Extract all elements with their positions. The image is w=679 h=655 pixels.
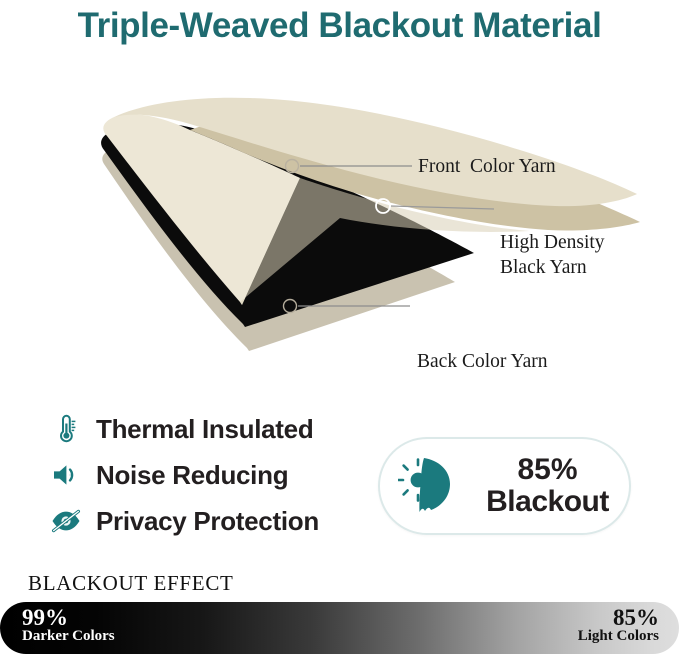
feature-item-thermal-insulated: Thermal Insulated [46, 406, 366, 452]
callout-label-high-density-black-yarn: High Density Black Yarn [500, 231, 605, 281]
speaker-sound-icon [46, 458, 86, 492]
callout-label-front-color-yarn: Front Color Yarn [418, 155, 556, 180]
blackout-effect-heading: BLACKOUT EFFECT [28, 571, 234, 596]
bar-right-percent: 85% [578, 606, 659, 630]
eye-slash-icon [46, 504, 86, 538]
feature-label: Privacy Protection [96, 506, 319, 537]
feature-item-noise-reducing: Noise Reducing [46, 452, 366, 498]
feature-list: Thermal Insulated Noise Reducing Privacy… [46, 406, 366, 544]
bar-right-label: 85% Light Colors [578, 606, 659, 646]
badge-percent: 85% [476, 454, 619, 486]
badge-word: Blackout [476, 486, 619, 518]
blackout-effect-gradient-bar: 99% Darker Colors 85% Light Colors [0, 602, 679, 654]
blackout-percentage-badge: 85% Blackout [378, 437, 631, 535]
bar-right-note: Light Colors [578, 629, 659, 645]
bar-left-percent: 99% [22, 606, 115, 630]
thermometer-icon [46, 412, 86, 446]
badge-text-block: 85% Blackout [476, 454, 629, 518]
fabric-layers-diagram: Front Color Yarn High Density Black Yarn… [0, 52, 679, 392]
callout-label-back-color-yarn: Back Color Yarn [417, 350, 548, 375]
feature-item-privacy-protection: Privacy Protection [46, 498, 366, 544]
page-title: Triple-Weaved Blackout Material [0, 0, 679, 52]
feature-label: Noise Reducing [96, 460, 288, 491]
bar-left-label: 99% Darker Colors [22, 606, 115, 646]
feature-label: Thermal Insulated [96, 414, 313, 445]
sun-behind-curtain-icon [380, 454, 476, 518]
bar-left-note: Darker Colors [22, 629, 115, 645]
